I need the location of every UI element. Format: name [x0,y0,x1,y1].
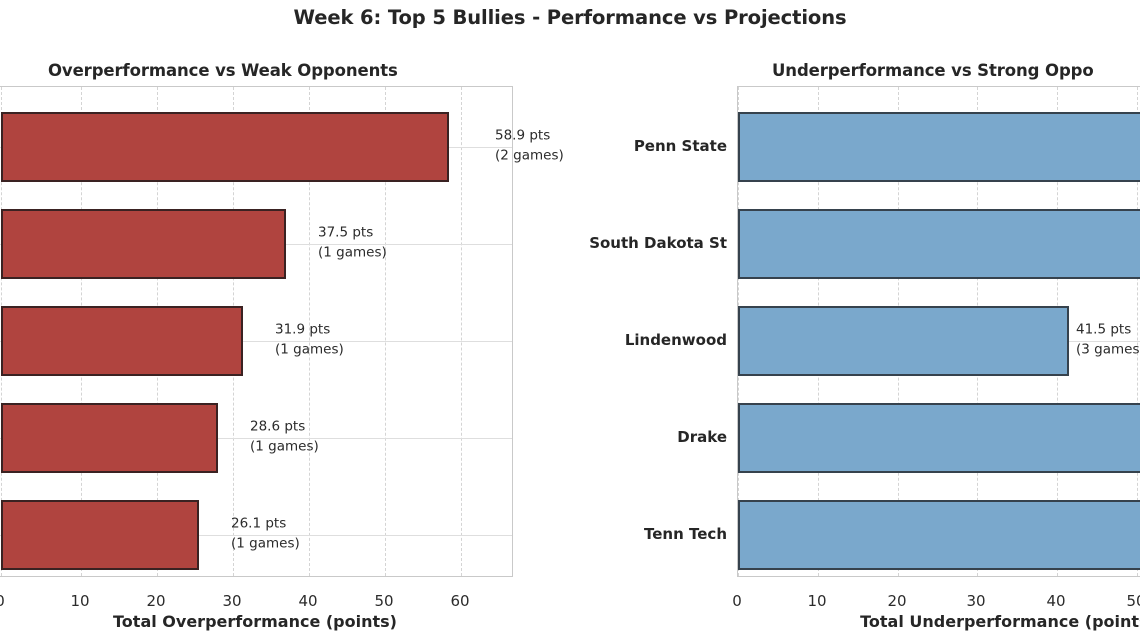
bar-value-left-0: 58.9 pts [495,126,564,146]
bar-value-right-lindenwood: 41.5 pts [1076,320,1140,340]
left-subplot-title: Overperformance vs Weak Opponents [48,61,398,80]
bar-games-left-3: (1 games) [250,437,319,457]
bar-left-3 [1,403,218,473]
bar-left-2 [1,306,243,376]
xtick-left-20: 20 [146,592,165,610]
xtick-left-30: 30 [222,592,241,610]
ytick-right-penn-state: Penn State [634,137,727,155]
gridline-x-60 [461,87,462,576]
xtick-right-40: 40 [1046,592,1065,610]
bar-value-left-3: 28.6 pts [250,417,319,437]
bar-left-4 [1,500,199,570]
right-xaxis-label: Total Underperformance (points) [860,612,1140,631]
bar-label-left-2: 31.9 pts (1 games) [275,320,344,359]
left-xaxis-label: Total Overperformance (points) [113,612,397,631]
bar-games-right-lindenwood: (3 games) [1076,340,1140,360]
xtick-right-10: 10 [807,592,826,610]
bar-label-right-lindenwood: 41.5 pts (3 games) [1076,320,1140,359]
xtick-right-30: 30 [966,592,985,610]
bar-value-left-1: 37.5 pts [318,223,387,243]
bar-label-left-1: 37.5 pts (1 games) [318,223,387,262]
right-subplot-title: Underperformance vs Strong Oppo [772,61,1094,80]
bar-label-left-3: 28.6 pts (1 games) [250,417,319,456]
bar-games-left-1: (1 games) [318,243,387,263]
bar-right-penn-state [738,112,1140,182]
ytick-right-tenn-tech: Tenn Tech [644,525,727,543]
bar-right-lindenwood [738,306,1069,376]
left-plot-area [0,86,513,577]
xtick-right-50: 50 [1126,592,1140,610]
xtick-right-20: 20 [887,592,906,610]
bar-left-1 [1,209,286,279]
bar-label-left-0: 58.9 pts (2 games) [495,126,564,165]
figure-canvas: Week 6: Top 5 Bullies - Performance vs P… [0,0,1140,641]
bar-value-left-2: 31.9 pts [275,320,344,340]
ytick-right-lindenwood: Lindenwood [625,331,727,349]
xtick-left-40: 40 [298,592,317,610]
xtick-left-50: 50 [374,592,393,610]
bar-left-0 [1,112,449,182]
xtick-left-60: 60 [450,592,469,610]
ytick-right-south-dakota-st: South Dakota St [589,234,727,252]
xtick-right-0: 0 [732,592,742,610]
bar-right-drake [738,403,1140,473]
bar-value-left-4: 26.1 pts [231,514,300,534]
bar-games-left-0: (2 games) [495,146,564,166]
xtick-left-0: 0 [0,592,5,610]
bar-label-left-4: 26.1 pts (1 games) [231,514,300,553]
bar-games-left-4: (1 games) [231,534,300,554]
xtick-left-10: 10 [70,592,89,610]
bar-games-left-2: (1 games) [275,340,344,360]
bar-right-south-dakota-st [738,209,1140,279]
figure-title: Week 6: Top 5 Bullies - Performance vs P… [0,6,1140,29]
bar-right-tenn-tech [738,500,1140,570]
ytick-right-drake: Drake [677,428,727,446]
